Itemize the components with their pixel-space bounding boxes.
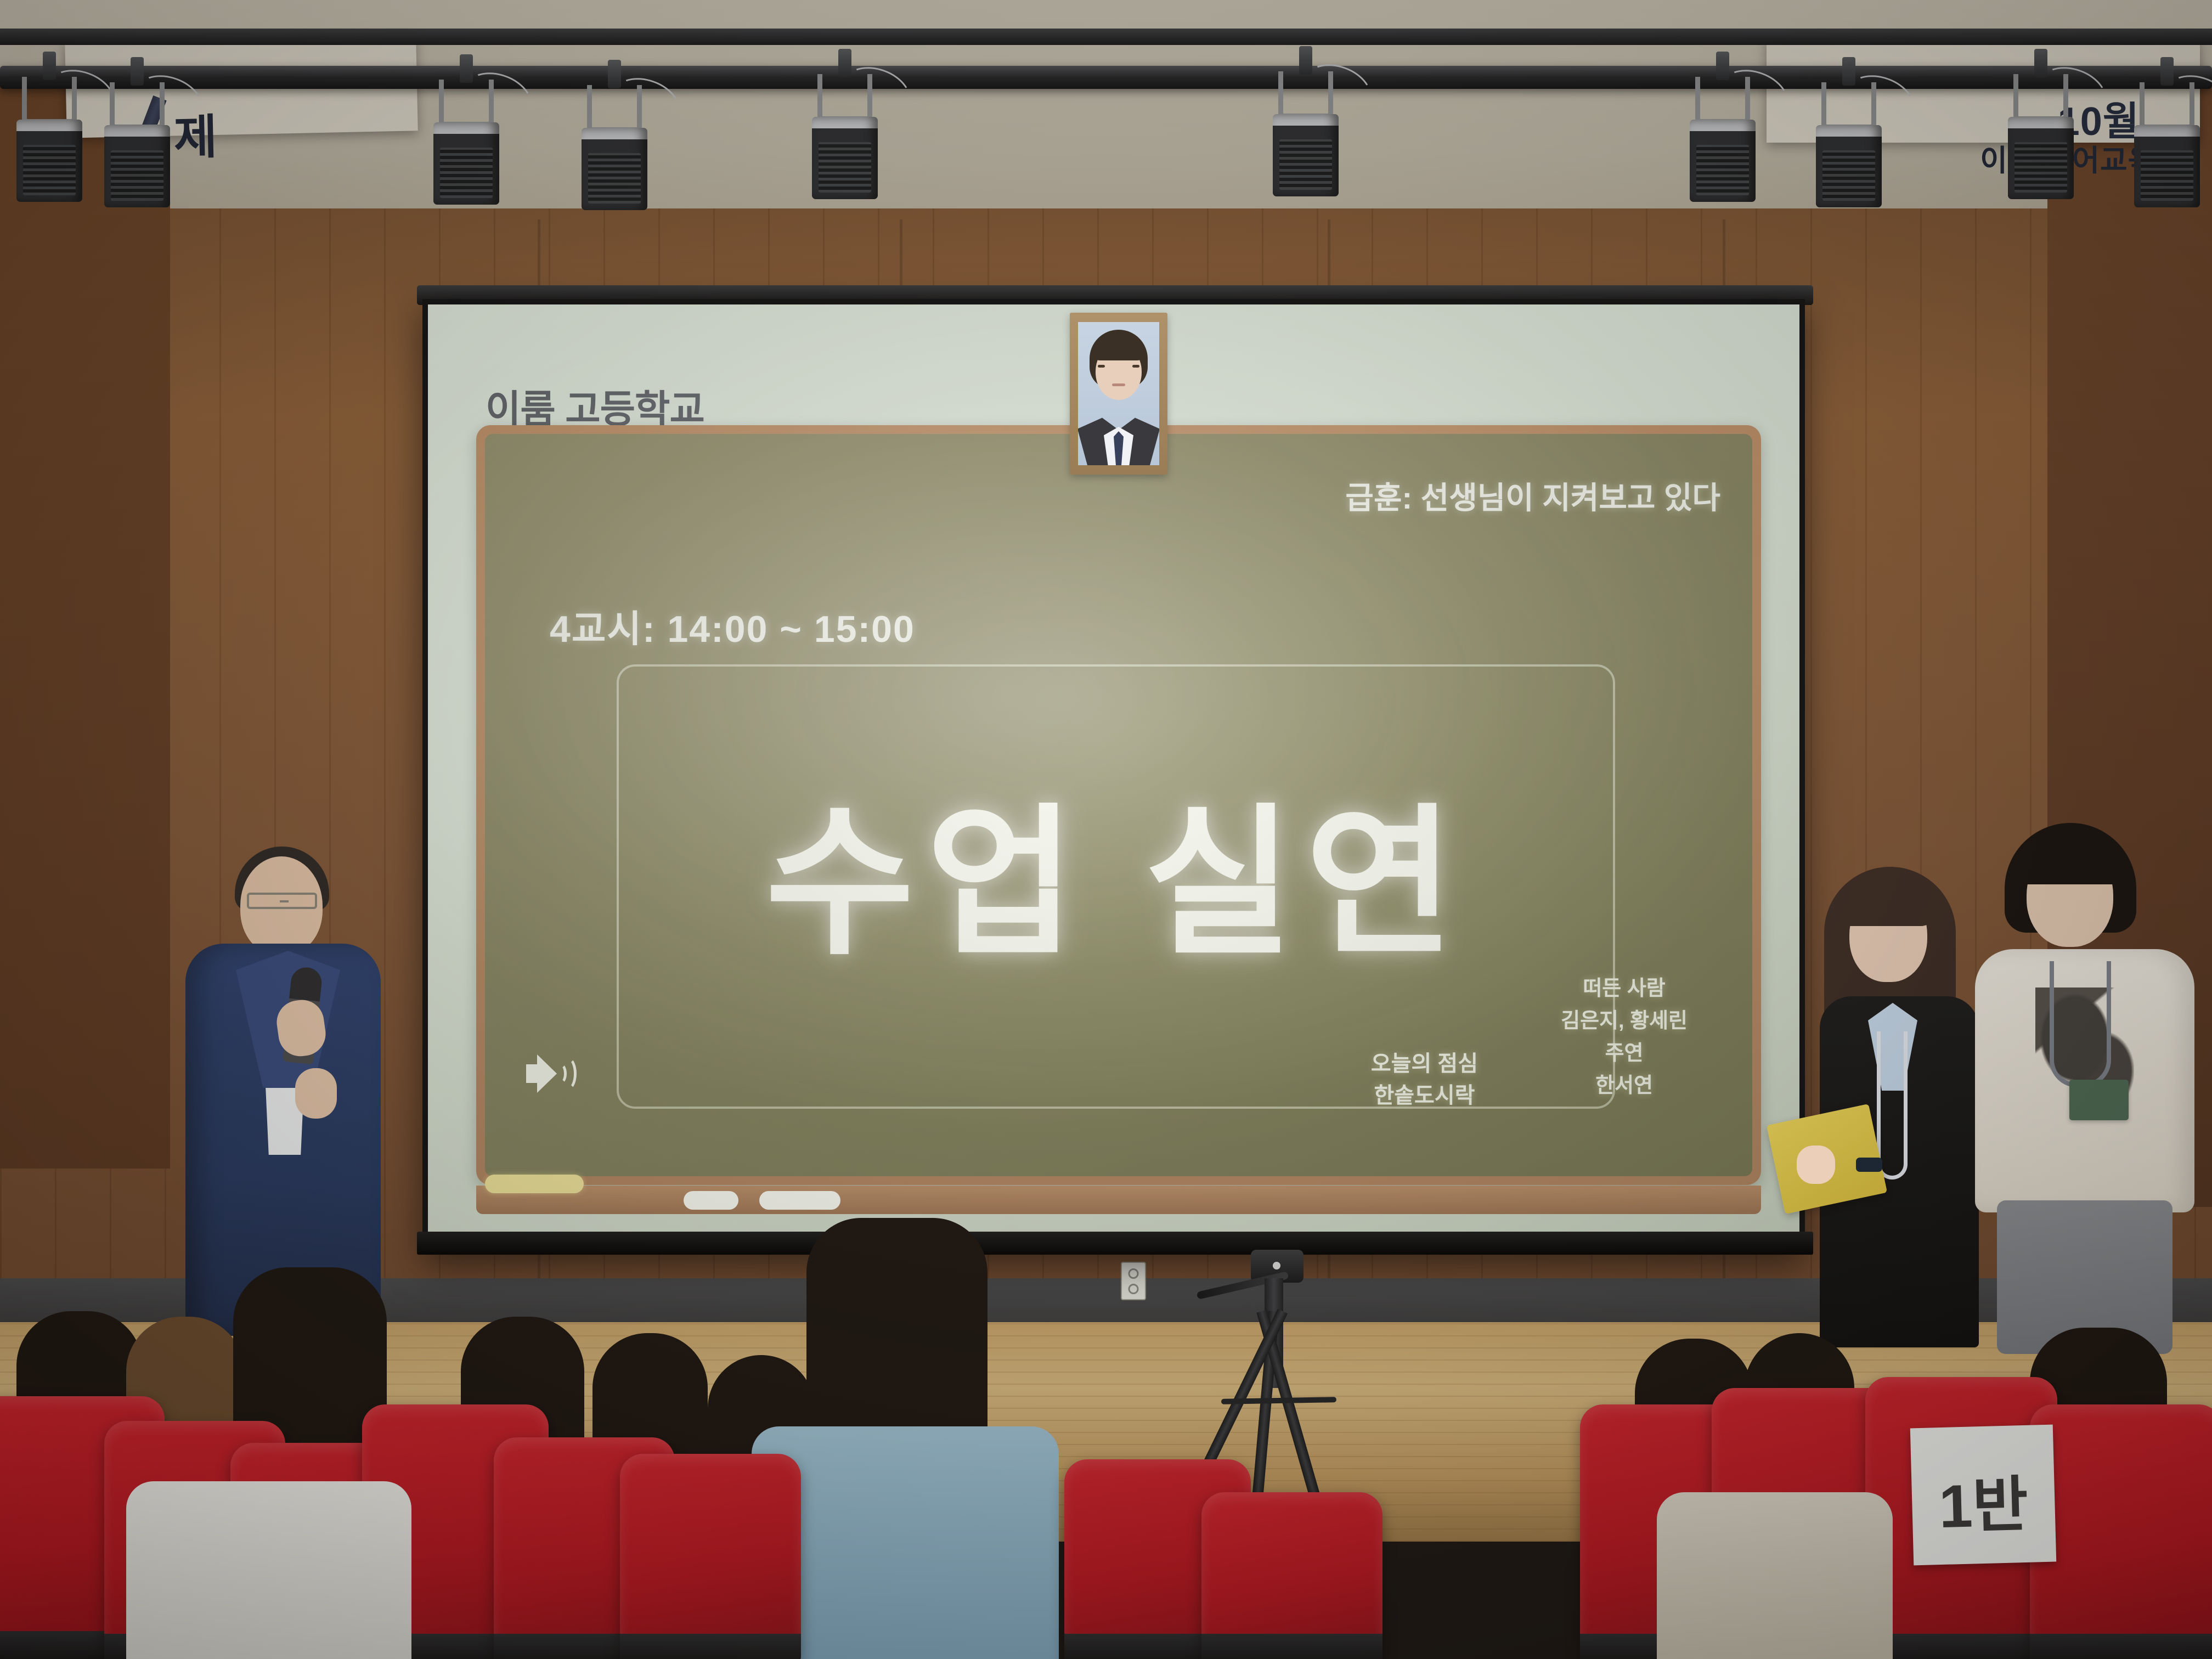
portrait-image (1078, 322, 1159, 465)
yellow-chalk (485, 1175, 584, 1193)
student-presenter (1975, 823, 2194, 1350)
class-sign: 1반 (1910, 1425, 2056, 1566)
auditorium-seat (2030, 1404, 2212, 1659)
left-wall-panel (0, 82, 170, 1169)
audience-body (126, 1481, 411, 1659)
title-box: 수업 실연 (617, 664, 1615, 1109)
ceiling-beam (0, 29, 2212, 45)
auditorium-seat (1201, 1492, 1383, 1659)
lunch-note: 오늘의 점심 한솥도시락 (1371, 1048, 1478, 1111)
screen-bottom-bar (417, 1232, 1813, 1255)
presenter-speaker (170, 842, 390, 1336)
class-motto: 급훈: 선생님이 지켜보고 있다 (1345, 473, 1720, 518)
staff-assistant (1808, 867, 1989, 1344)
volume-speaker-icon (526, 1054, 577, 1094)
noisy-label: 떠든 사람 (1561, 973, 1688, 1005)
slide-surface: 이룸 고등학교 급훈: 선생님이 지켜보고 있다 4교시: 14:00 ~ 15… (428, 304, 1799, 1237)
slide-main-title: 수업 실연 (619, 803, 1613, 964)
lunch-value: 한솥도시락 (1371, 1080, 1478, 1111)
white-chalk (759, 1191, 840, 1210)
chalk-ledge (476, 1186, 1761, 1214)
white-chalk (684, 1191, 738, 1210)
noisy-names: 김은지, 황세린 (1561, 1005, 1688, 1037)
eyeglasses-icon (247, 893, 317, 909)
class-sign-text: 1반 (1911, 1454, 2056, 1546)
name-badge (2069, 1080, 2129, 1120)
lead-label: 주연 (1561, 1037, 1688, 1070)
auditorium-seat (620, 1454, 801, 1659)
period-time: 4교시: 14:00 ~ 15:00 (550, 599, 915, 653)
noisy-list-note: 떠든 사람 김은지, 황세린 주연 한서연 (1561, 973, 1688, 1102)
lunch-label: 오늘의 점심 (1371, 1048, 1478, 1080)
audience-body (1657, 1492, 1893, 1659)
chalkboard-surface: 급훈: 선생님이 지켜보고 있다 4교시: 14:00 ~ 15:00 수업 실… (485, 434, 1752, 1176)
chalkboard-frame: 급훈: 선생님이 지켜보고 있다 4교시: 14:00 ~ 15:00 수업 실… (476, 425, 1761, 1185)
lead-name: 한서연 (1561, 1070, 1688, 1102)
wristwatch (1856, 1158, 1882, 1172)
projection-screen: 이룸 고등학교 급훈: 선생님이 지켜보고 있다 4교시: 14:00 ~ 15… (422, 299, 1805, 1254)
framed-portrait-photo (1070, 313, 1167, 475)
wall-power-outlet (1121, 1262, 1146, 1300)
audience-head (806, 1218, 988, 1454)
auditorium-scene: 제 10월 이룸 국어교육과 이룸 고등학교 급훈: 선생님이 지켜보고 있다 … (0, 0, 2212, 1659)
